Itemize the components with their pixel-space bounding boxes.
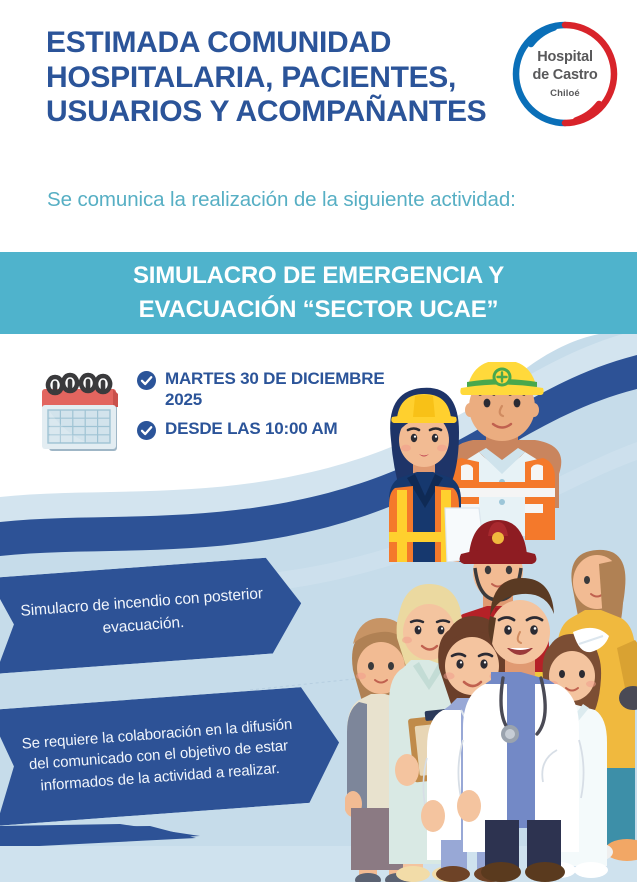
check-circle-icon (137, 421, 156, 440)
header: ESTIMADA COMUNIDAD HOSPITALARIA, PACIENT… (0, 0, 637, 252)
date-item-text: MARTES 30 DE DICIEMBRE 2025 (165, 369, 417, 410)
event-title-banner: SIMULACRO DE EMERGENCIA Y EVACUACIÓN “SE… (0, 252, 637, 334)
date-item-0: MARTES 30 DE DICIEMBRE 2025 (137, 369, 417, 410)
date-item-1: DESDE LAS 10:00 AM (137, 419, 417, 440)
date-item-text: DESDE LAS 10:00 AM (165, 419, 337, 440)
circle-logo-icon (509, 18, 621, 130)
event-title-line-2: EVACUACIÓN “SECTOR UCAE” (139, 293, 499, 327)
subheading: Se comunica la realización de la siguien… (47, 183, 577, 217)
poster-root: ESTIMADA COMUNIDAD HOSPITALARIA, PACIENT… (0, 0, 637, 882)
date-list: MARTES 30 DE DICIEMBRE 2025 DESDE LAS 10… (137, 369, 417, 449)
check-circle-icon (137, 371, 156, 390)
medical-staff-illustration (345, 520, 637, 882)
calendar-icon (38, 367, 126, 459)
event-title-line-1: SIMULACRO DE EMERGENCIA Y (133, 259, 504, 293)
date-block: MARTES 30 DE DICIEMBRE 2025 DESDE LAS 10… (0, 355, 420, 465)
page-title: ESTIMADA COMUNIDAD HOSPITALARIA, PACIENT… (46, 26, 506, 130)
